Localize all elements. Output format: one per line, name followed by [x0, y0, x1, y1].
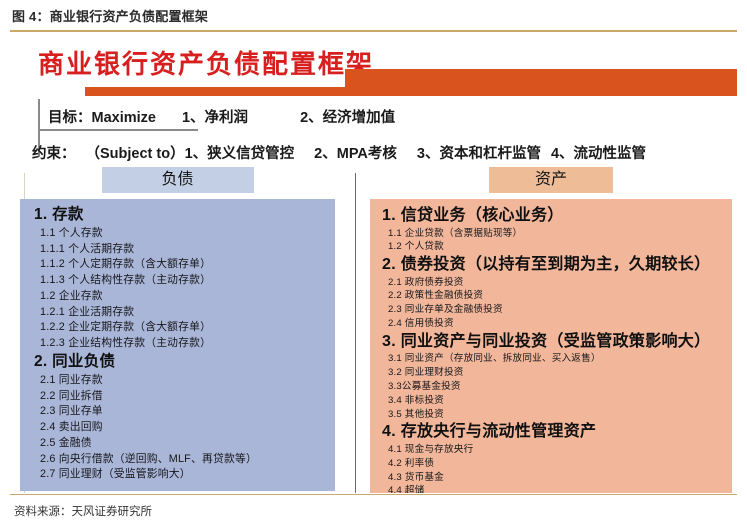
assets-panel: 1. 信贷业务（核心业务）1.1 企业贷款（含票据贴现等）1.2 个人贷款2. …	[370, 199, 732, 493]
asset-item: 2.3 同业存单及金融债投资	[370, 303, 732, 317]
accent-bar-primary	[345, 69, 737, 96]
asset-item: 3.5 其他投资	[370, 408, 732, 422]
column-divider	[355, 173, 356, 493]
asset-item: 4.1 现金与存放央行	[370, 443, 732, 457]
liability-item: 2.3 同业存单	[20, 404, 335, 420]
liability-group-title: 2. 同业负债	[20, 352, 335, 373]
asset-item: 2.1 政府债券投资	[370, 276, 732, 290]
liability-item: 2.7 同业理财（受监管影响大）	[20, 467, 335, 483]
slide-body: 商业银行资产负债配置框架 目标：Maximize1、净利润2、经济增加值 约束：…	[10, 33, 737, 493]
asset-item: 3.3公募基金投资	[370, 380, 732, 394]
objective-item-2: 2、经济增加值	[300, 110, 395, 126]
objective-label: 目标：	[48, 110, 92, 126]
objective-keyword: Maximize	[92, 110, 156, 126]
source-note: 资料来源：天风证券研究所	[14, 503, 152, 519]
accent-bar-secondary	[85, 87, 360, 96]
asset-item: 1.1 企业贷款（含票据贴现等）	[370, 227, 732, 241]
liability-item: 1.1.3 个人结构性存款（主动存款）	[20, 273, 335, 289]
liability-item: 1.1.2 个人定期存款（含大额存单）	[20, 257, 335, 273]
asset-group-title: 4. 存放央行与流动性管理资产	[370, 421, 732, 443]
figure-caption: 图 4：商业银行资产负债配置框架	[12, 6, 208, 25]
figure-page: 图 4：商业银行资产负债配置框架 商业银行资产负债配置框架 目标：Maximiz…	[0, 0, 747, 529]
constraint-item-1: 1、狭义信贷管控	[185, 146, 295, 162]
asset-item: 3.1 同业资产（存放同业、拆放同业、买入返售）	[370, 352, 732, 366]
constraint-keyword: （Subject to）	[86, 146, 185, 162]
liability-item: 2.5 金融债	[20, 436, 335, 452]
liability-item: 2.4 卖出回购	[20, 420, 335, 436]
asset-group-title: 3. 同业资产与同业投资（受监管政策影响大）	[370, 331, 732, 353]
footer-divider	[10, 494, 737, 495]
objective-item-1: 1、净利润	[182, 110, 248, 126]
liability-item: 1.2 企业存款	[20, 289, 335, 305]
asset-item: 4.3 货币基金	[370, 471, 732, 485]
constraint-item-4: 4、流动性监管	[551, 146, 646, 162]
asset-item: 4.4 超储	[370, 484, 732, 493]
asset-item: 3.2 同业理财投资	[370, 366, 732, 380]
asset-item: 3.4 非标投资	[370, 394, 732, 408]
constraint-item-2: 2、MPA考核	[314, 146, 397, 162]
liability-item: 1.2.2 企业定期存款（含大额存单）	[20, 320, 335, 336]
slide-title: 商业银行资产负债配置框架	[38, 44, 374, 81]
liability-item: 1.2.3 企业结构性存款（主动存款）	[20, 336, 335, 352]
liability-item: 2.1 同业存款	[20, 373, 335, 389]
asset-item: 2.4 信用债投资	[370, 317, 732, 331]
objective-row: 目标：Maximize1、净利润2、经济增加值	[48, 106, 395, 127]
assets-column: 资产 1. 信贷业务（核心业务）1.1 企业贷款（含票据贴现等）1.2 个人贷款…	[370, 167, 732, 493]
asset-group-title: 2. 债券投资（以持有至到期为主，久期较长）	[370, 254, 732, 276]
liability-item: 2.6 向央行借款（逆回购、MLF、再贷款等）	[20, 452, 335, 468]
asset-item: 2.2 政策性金融债投资	[370, 289, 732, 303]
liabilities-column: 负债 1. 存款1.1 个人存款1.1.1 个人活期存款1.1.2 个人定期存款…	[20, 167, 335, 491]
liability-group-title: 1. 存款	[20, 205, 335, 226]
liability-item: 2.2 同业拆借	[20, 389, 335, 405]
constraint-item-3: 3、资本和杠杆监管	[417, 146, 541, 162]
liability-item: 1.1.1 个人活期存款	[20, 242, 335, 258]
caption-divider	[10, 30, 737, 32]
liabilities-header: 负债	[102, 167, 254, 193]
liabilities-panel: 1. 存款1.1 个人存款1.1.1 个人活期存款1.1.2 个人定期存款（含大…	[20, 199, 335, 491]
objective-horizontal-rule	[38, 129, 198, 131]
assets-header: 资产	[489, 167, 613, 193]
asset-item: 1.2 个人贷款	[370, 240, 732, 254]
liability-item: 1.2.1 企业活期存款	[20, 305, 335, 321]
asset-item: 4.2 利率债	[370, 457, 732, 471]
constraint-label: 约束：	[32, 146, 76, 162]
liability-item: 1.1 个人存款	[20, 226, 335, 242]
asset-group-title: 1. 信贷业务（核心业务）	[370, 205, 732, 227]
constraint-row: 约束：（Subject to）1、狭义信贷管控2、MPA考核3、资本和杠杆监管4…	[32, 142, 646, 163]
